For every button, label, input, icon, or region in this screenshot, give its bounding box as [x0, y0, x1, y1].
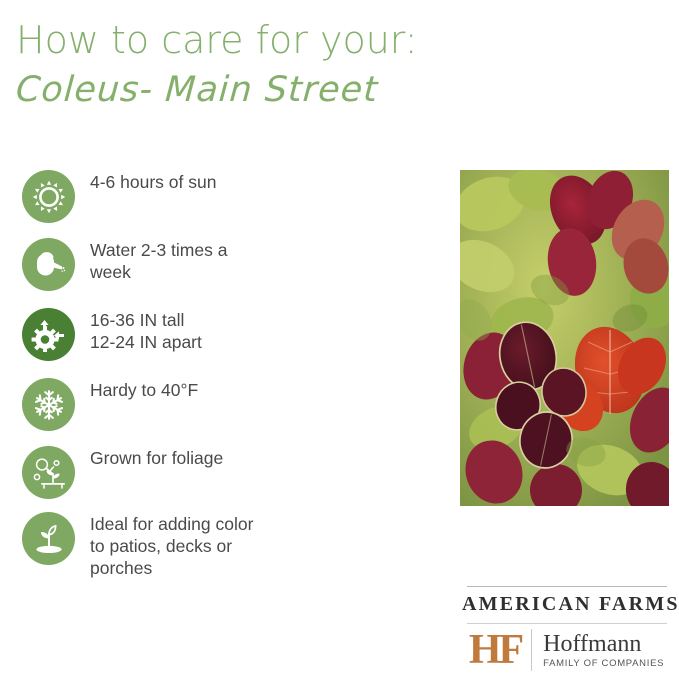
logo-company-name: Hoffmann — [543, 632, 664, 657]
care-item-row: Ideal for adding color to patios, decks … — [22, 512, 422, 579]
watering-can-icon — [22, 238, 75, 291]
care-item-label: Ideal for adding color to patios, decks … — [90, 512, 253, 579]
seedling-icon — [22, 512, 75, 565]
logo-divider-mid — [467, 623, 667, 624]
care-item-label: Grown for foliage — [90, 446, 223, 469]
brand-logo: AMERICAN FARMS HF Hoffmann FAMILY OF COM… — [462, 586, 671, 672]
snowflake-icon — [22, 378, 75, 431]
care-item-label: Water 2-3 times a week — [90, 238, 227, 283]
care-item-row: Grown for foliage — [22, 446, 422, 499]
foliage-icon — [22, 446, 75, 499]
care-item-row: 4-6 hours of sun — [22, 170, 422, 223]
care-item-label: 4-6 hours of sun — [90, 170, 216, 193]
sun-icon — [22, 170, 75, 223]
page-title: How to care for your: — [16, 18, 418, 62]
care-item-label: Hardy to 40°F — [90, 378, 198, 401]
care-item-row: 16-36 IN tall 12-24 IN apart — [22, 308, 422, 361]
logo-lower-row: HF Hoffmann FAMILY OF COMPANIES — [462, 628, 671, 672]
coleus-foliage-photo — [460, 170, 669, 506]
care-item-row: Hardy to 40°F — [22, 378, 422, 431]
logo-company-block: Hoffmann FAMILY OF COMPANIES — [532, 632, 664, 669]
logo-tagline: FAMILY OF COMPANIES — [543, 658, 664, 669]
hf-monogram-icon: HF — [469, 628, 531, 672]
care-item-label: 16-36 IN tall 12-24 IN apart — [90, 308, 202, 353]
plant-spacing-icon — [22, 308, 75, 361]
logo-brand-name: AMERICAN FARMS — [462, 593, 671, 616]
logo-divider-top — [467, 586, 667, 587]
plant-name-subtitle: Coleus- Main Street — [15, 70, 380, 110]
care-item-row: Water 2-3 times a week — [22, 238, 422, 291]
